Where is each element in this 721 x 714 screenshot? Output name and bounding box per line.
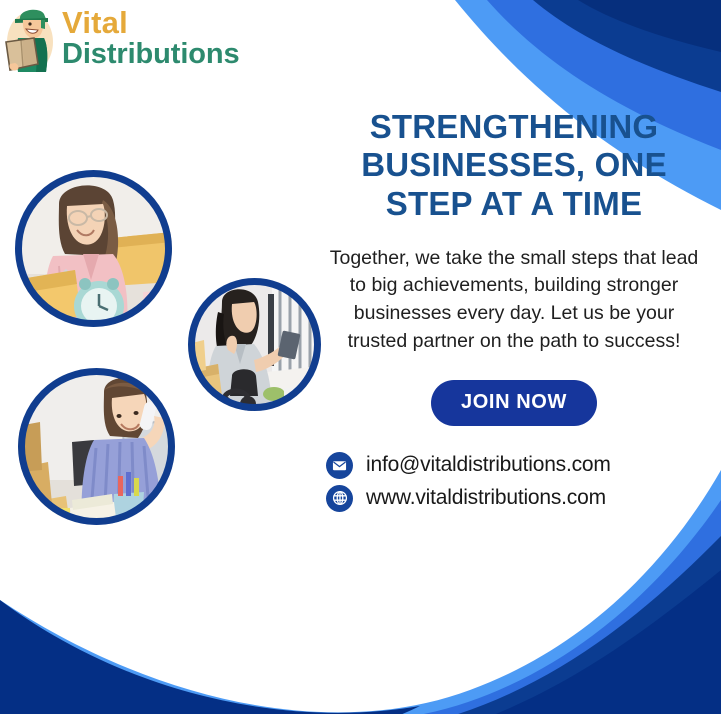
delivery-man-with-box-icon: [4, 2, 56, 74]
contact-email-text: info@vitaldistributions.com: [366, 453, 611, 477]
contact-website-text: www.vitaldistributions.com: [366, 486, 606, 510]
hero-description: Together, we take the small steps that l…: [322, 245, 706, 356]
brand-name-primary: Vital: [62, 7, 240, 38]
contact-list: info@vitaldistributions.com www.vitaldis…: [318, 452, 710, 512]
top-right-deep-navy-swoosh: [578, 0, 721, 52]
woman-on-phone-with-laptop-photo: [18, 368, 175, 525]
hero-content: STRENGTHENING BUSINESSES, ONE STEP AT A …: [318, 108, 710, 512]
join-now-button[interactable]: JOIN NOW: [431, 380, 597, 426]
woman-with-tablet-at-desk-photo: [188, 278, 321, 411]
bottom-navy-wave: [0, 536, 721, 714]
contact-row-email[interactable]: info@vitaldistributions.com: [326, 452, 611, 479]
envelope-icon: [326, 452, 353, 479]
bottom-royal-wave: [0, 500, 721, 714]
bottom-deep-navy-wave: [0, 570, 721, 714]
page-title: STRENGTHENING BUSINESSES, ONE STEP AT A …: [318, 108, 710, 223]
contact-row-website[interactable]: www.vitaldistributions.com: [326, 485, 606, 512]
bottom-left-navy-sliver: [0, 600, 420, 714]
brand-logo[interactable]: Vital Distributions: [4, 2, 240, 74]
globe-icon: [326, 485, 353, 512]
brand-name-secondary: Distributions: [62, 40, 240, 69]
woman-writing-on-parcels-photo: [15, 170, 172, 327]
top-right-navy-swoosh: [533, 0, 721, 92]
promotional-banner: Vital Distributions: [0, 0, 721, 714]
